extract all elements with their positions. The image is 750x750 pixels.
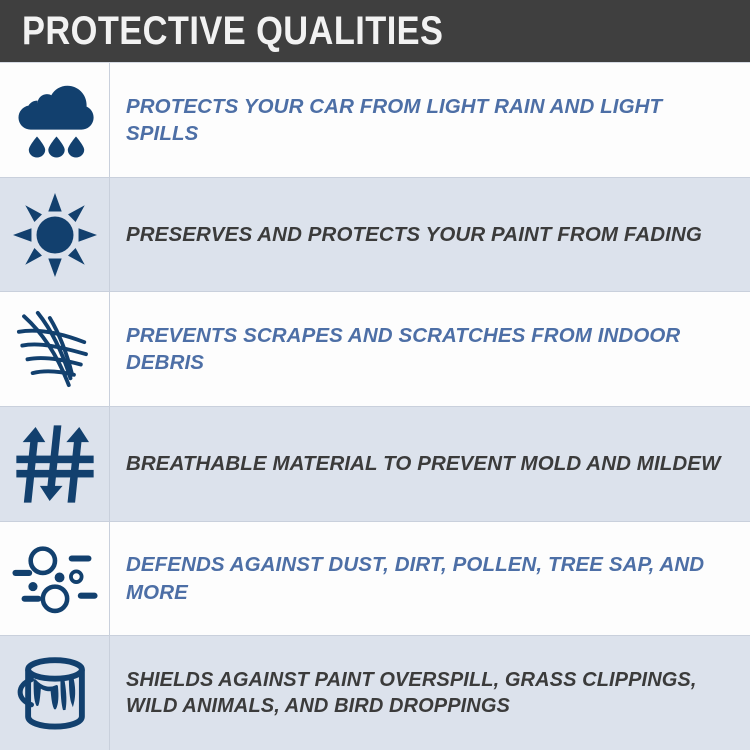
list-item-label: PREVENTS SCRAPES AND SCRATCHES FROM INDO… [126, 322, 734, 376]
list-item: PRESERVES AND PROTECTS YOUR PAINT FROM F… [0, 177, 750, 292]
list-item-label: BREATHABLE MATERIAL TO PREVENT MOLD AND … [126, 450, 721, 477]
icon-cell [0, 407, 110, 521]
text-cell: DEFENDS AGAINST DUST, DIRT, POLLEN, TREE… [110, 522, 750, 636]
list-item-label: PROTECTS YOUR CAR FROM LIGHT RAIN AND LI… [126, 93, 734, 147]
text-cell: BREATHABLE MATERIAL TO PREVENT MOLD AND … [110, 407, 750, 521]
icon-cell [0, 292, 110, 406]
list-item: PROTECTS YOUR CAR FROM LIGHT RAIN AND LI… [0, 62, 750, 177]
dust-particles-icon [9, 541, 101, 617]
list-item: DEFENDS AGAINST DUST, DIRT, POLLEN, TREE… [0, 521, 750, 636]
protective-qualities-infographic: PROTECTIVE QUALITIES PROTECTS YOUR CAR F… [0, 0, 750, 750]
icon-cell [0, 522, 110, 636]
list-item: SHIELDS AGAINST PAINT OVERSPILL, GRASS C… [0, 635, 750, 750]
text-cell: PRESERVES AND PROTECTS YOUR PAINT FROM F… [110, 178, 750, 292]
icon-cell [0, 63, 110, 177]
header-bar: PROTECTIVE QUALITIES [0, 0, 750, 62]
list-item-label: SHIELDS AGAINST PAINT OVERSPILL, GRASS C… [126, 667, 734, 720]
list-item-label: DEFENDS AGAINST DUST, DIRT, POLLEN, TREE… [126, 551, 734, 605]
icon-cell [0, 636, 110, 750]
list-item-label: PRESERVES AND PROTECTS YOUR PAINT FROM F… [126, 221, 702, 248]
text-cell: PREVENTS SCRAPES AND SCRATCHES FROM INDO… [110, 292, 750, 406]
list-item: BREATHABLE MATERIAL TO PREVENT MOLD AND … [0, 406, 750, 521]
text-cell: SHIELDS AGAINST PAINT OVERSPILL, GRASS C… [110, 636, 750, 750]
icon-cell [0, 178, 110, 292]
scratch-mesh-icon [12, 306, 98, 392]
breathable-airflow-icon [13, 422, 97, 506]
sun-icon [13, 193, 97, 277]
text-cell: PROTECTS YOUR CAR FROM LIGHT RAIN AND LI… [110, 63, 750, 177]
paint-can-icon [13, 651, 97, 735]
rain-cloud-icon [15, 81, 95, 159]
feature-list: PROTECTS YOUR CAR FROM LIGHT RAIN AND LI… [0, 62, 750, 750]
page-title: PROTECTIVE QUALITIES [22, 11, 443, 51]
list-item: PREVENTS SCRAPES AND SCRATCHES FROM INDO… [0, 291, 750, 406]
